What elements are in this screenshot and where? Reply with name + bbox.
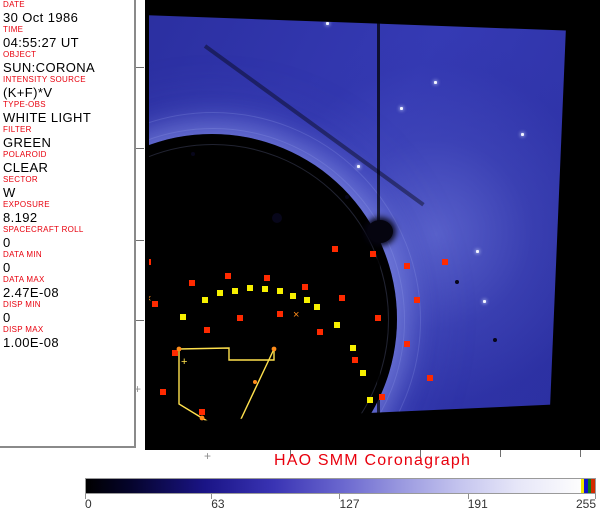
inner-radial-marker [360, 370, 366, 376]
outer-radial-marker [442, 259, 448, 265]
outer-radial-marker [332, 246, 338, 252]
outer-radial-marker [379, 394, 385, 400]
inner-radial-marker [290, 293, 296, 299]
metadata-value: 0 [3, 310, 134, 325]
outer-radial-marker [152, 301, 158, 307]
dark-artifact-spot [455, 280, 459, 284]
outer-radial-marker [189, 280, 195, 286]
axis-origin-plus-left: + [134, 383, 141, 395]
metadata-label: FILTER [3, 125, 134, 135]
dark-artifact-spot [191, 152, 195, 156]
inner-radial-marker [202, 297, 208, 303]
bright-speck [357, 165, 360, 168]
bright-speck [521, 133, 524, 136]
metadata-label: TIME [3, 25, 134, 35]
metadata-entry: INTENSITY SOURCE(K+F)*V [0, 75, 134, 100]
dark-artifact-spot [272, 213, 282, 223]
axis-tick-left [136, 240, 144, 241]
inner-radial-marker [217, 290, 223, 296]
metadata-value: 0 [3, 260, 134, 275]
outer-radial-marker [237, 315, 243, 321]
metadata-label: DATE [3, 0, 134, 10]
inner-radial-marker [350, 345, 356, 351]
colorbar-tick-label: 63 [211, 498, 224, 511]
bright-speck [434, 81, 437, 84]
metadata-label: POLAROID [3, 150, 134, 160]
metadata-value: 8.192 [3, 210, 134, 225]
metadata-entry: TIME04:55:27 UT [0, 25, 134, 50]
plus-marker: + [181, 357, 187, 368]
metadata-label: SPACECRAFT ROLL [3, 225, 134, 235]
outer-radial-marker [199, 409, 205, 415]
dark-artifact-spot [493, 338, 497, 342]
metadata-entry: DISP MIN0 [0, 300, 134, 325]
colorbar-tick-label: 127 [339, 498, 359, 511]
metadata-value: W [3, 185, 134, 200]
colorbar-tick-label: 191 [468, 498, 488, 511]
outer-radial-marker [277, 311, 283, 317]
cross-marker: × [293, 310, 299, 321]
outer-radial-marker [172, 350, 178, 356]
inner-radial-marker [180, 314, 186, 320]
outer-radial-marker [414, 297, 420, 303]
metadata-entry: DATE30 Oct 1986 [0, 0, 134, 25]
coronagraph-viewer: DATE30 Oct 1986TIME04:55:27 UTOBJECTSUN:… [0, 0, 600, 512]
axis-tick-left [136, 67, 144, 68]
image-caption: HAO SMM Coronagraph [145, 452, 600, 470]
inner-radial-marker [304, 297, 310, 303]
metadata-entry: EXPOSURE8.192 [0, 200, 134, 225]
metadata-entry: SECTORW [0, 175, 134, 200]
occulter-disk [367, 220, 393, 243]
inner-radial-marker [232, 288, 238, 294]
outer-radial-marker [160, 389, 166, 395]
outer-radial-marker [404, 341, 410, 347]
inner-radial-marker [367, 397, 373, 403]
colorbar-gradient [86, 479, 581, 493]
colorbar-tick-labels: 063127191255 [85, 498, 596, 512]
metadata-label: DATA MAX [3, 275, 134, 285]
outer-radial-marker [204, 327, 210, 333]
metadata-entry: OBJECTSUN:CORONA [0, 50, 134, 75]
metadata-value: 0 [3, 235, 134, 250]
inner-radial-marker [314, 304, 320, 310]
bright-speck [400, 107, 403, 110]
metadata-entry: DATA MAX2.47E-08 [0, 275, 134, 300]
inner-radial-marker [247, 285, 253, 291]
metadata-label: OBJECT [3, 50, 134, 60]
dark-artifact-spot [345, 195, 349, 199]
axis-tick-left [136, 320, 144, 321]
metadata-value: 2.47E-08 [3, 285, 134, 300]
axis-tick-left [136, 148, 144, 149]
metadata-label: DISP MIN [3, 300, 134, 310]
metadata-value: CLEAR [3, 160, 134, 175]
outer-radial-marker [427, 375, 433, 381]
outer-radial-marker [370, 251, 376, 257]
metadata-entry: FILTERGREEN [0, 125, 134, 150]
outer-radial-marker [339, 295, 345, 301]
metadata-entry: TYPE-OBSWHITE LIGHT [0, 100, 134, 125]
metadata-value: (K+F)*V [3, 85, 134, 100]
coronagraph-image[interactable]: ××+ [145, 0, 600, 450]
bright-speck [483, 300, 486, 303]
metadata-entry: POLAROIDCLEAR [0, 150, 134, 175]
metadata-entry: DISP MAX1.00E-08 [0, 325, 134, 350]
colorbar-red-band [591, 479, 595, 493]
metadata-entry: DATA MIN0 [0, 250, 134, 275]
outer-radial-marker [317, 329, 323, 335]
inner-radial-marker [262, 286, 268, 292]
outer-radial-marker [375, 315, 381, 321]
metadata-label: DATA MIN [3, 250, 134, 260]
colorbar[interactable] [85, 478, 596, 494]
outer-radial-marker [352, 357, 358, 363]
colorbar-tick-label: 0 [85, 498, 92, 511]
metadata-value: GREEN [3, 135, 134, 150]
metadata-value: SUN:CORONA [3, 60, 134, 75]
inner-radial-marker [334, 322, 340, 328]
outer-radial-marker [302, 284, 308, 290]
metadata-label: DISP MAX [3, 325, 134, 335]
metadata-label: EXPOSURE [3, 200, 134, 210]
metadata-value: 30 Oct 1986 [3, 10, 134, 25]
metadata-panel: DATE30 Oct 1986TIME04:55:27 UTOBJECTSUN:… [0, 0, 136, 448]
bright-speck [326, 22, 329, 25]
outer-radial-marker [404, 263, 410, 269]
metadata-value: WHITE LIGHT [3, 110, 134, 125]
detector-edge-left [145, 0, 149, 450]
outer-radial-marker [225, 273, 231, 279]
inner-radial-marker [277, 288, 283, 294]
bright-speck [476, 250, 479, 253]
metadata-label: TYPE-OBS [3, 100, 134, 110]
metadata-value: 04:55:27 UT [3, 35, 134, 50]
outer-radial-marker [264, 275, 270, 281]
metadata-value: 1.00E-08 [3, 335, 134, 350]
metadata-label: SECTOR [3, 175, 134, 185]
metadata-entry: SPACECRAFT ROLL0 [0, 225, 134, 250]
metadata-label: INTENSITY SOURCE [3, 75, 134, 85]
colorbar-tick-label: 255 [576, 498, 596, 511]
